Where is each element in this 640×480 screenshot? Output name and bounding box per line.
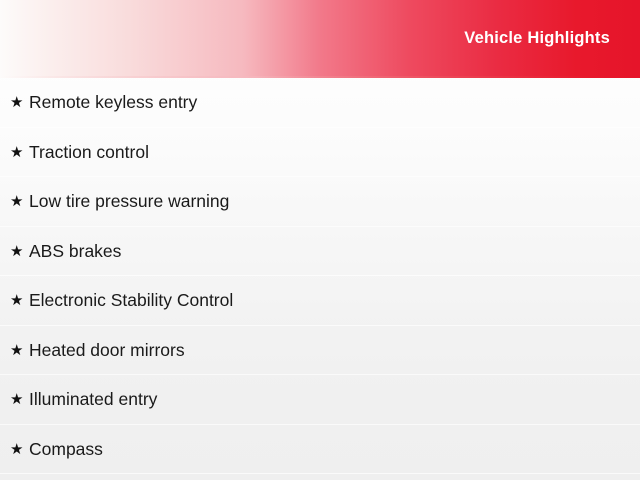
star-bullet-icon: ★ — [10, 293, 29, 308]
feature-label: Low tire pressure warning — [29, 193, 229, 211]
list-item: ★ Traction control — [0, 128, 640, 178]
list-item: ★ Electronic Stability Control — [0, 276, 640, 326]
star-bullet-icon: ★ — [10, 145, 29, 160]
star-bullet-icon: ★ — [10, 392, 29, 407]
list-item: ★ Remote keyless entry — [0, 78, 640, 128]
vehicle-highlights-slide: Vehicle Highlights ★ Remote keyless entr… — [0, 0, 640, 480]
star-bullet-icon: ★ — [10, 442, 29, 457]
list-item: ★ Compass — [0, 425, 640, 475]
feature-label: Illuminated entry — [29, 391, 157, 409]
page-title: Vehicle Highlights — [464, 29, 610, 48]
list-item: ★ ABS brakes — [0, 227, 640, 277]
list-item: ★ Low tire pressure warning — [0, 177, 640, 227]
feature-label: Traction control — [29, 144, 149, 162]
feature-label: ABS brakes — [29, 243, 121, 261]
header-banner: Vehicle Highlights — [0, 0, 640, 78]
star-bullet-icon: ★ — [10, 194, 29, 209]
vehicle-highlights-list: ★ Remote keyless entry ★ Traction contro… — [0, 78, 640, 480]
feature-label: Electronic Stability Control — [29, 292, 233, 310]
star-bullet-icon: ★ — [10, 343, 29, 358]
star-bullet-icon: ★ — [10, 244, 29, 259]
list-item: ★ Illuminated entry — [0, 375, 640, 425]
feature-label: Heated door mirrors — [29, 342, 185, 360]
list-item: ★ Heated door mirrors — [0, 326, 640, 376]
star-bullet-icon: ★ — [10, 95, 29, 110]
feature-label: Remote keyless entry — [29, 94, 197, 112]
feature-label: Compass — [29, 441, 103, 459]
